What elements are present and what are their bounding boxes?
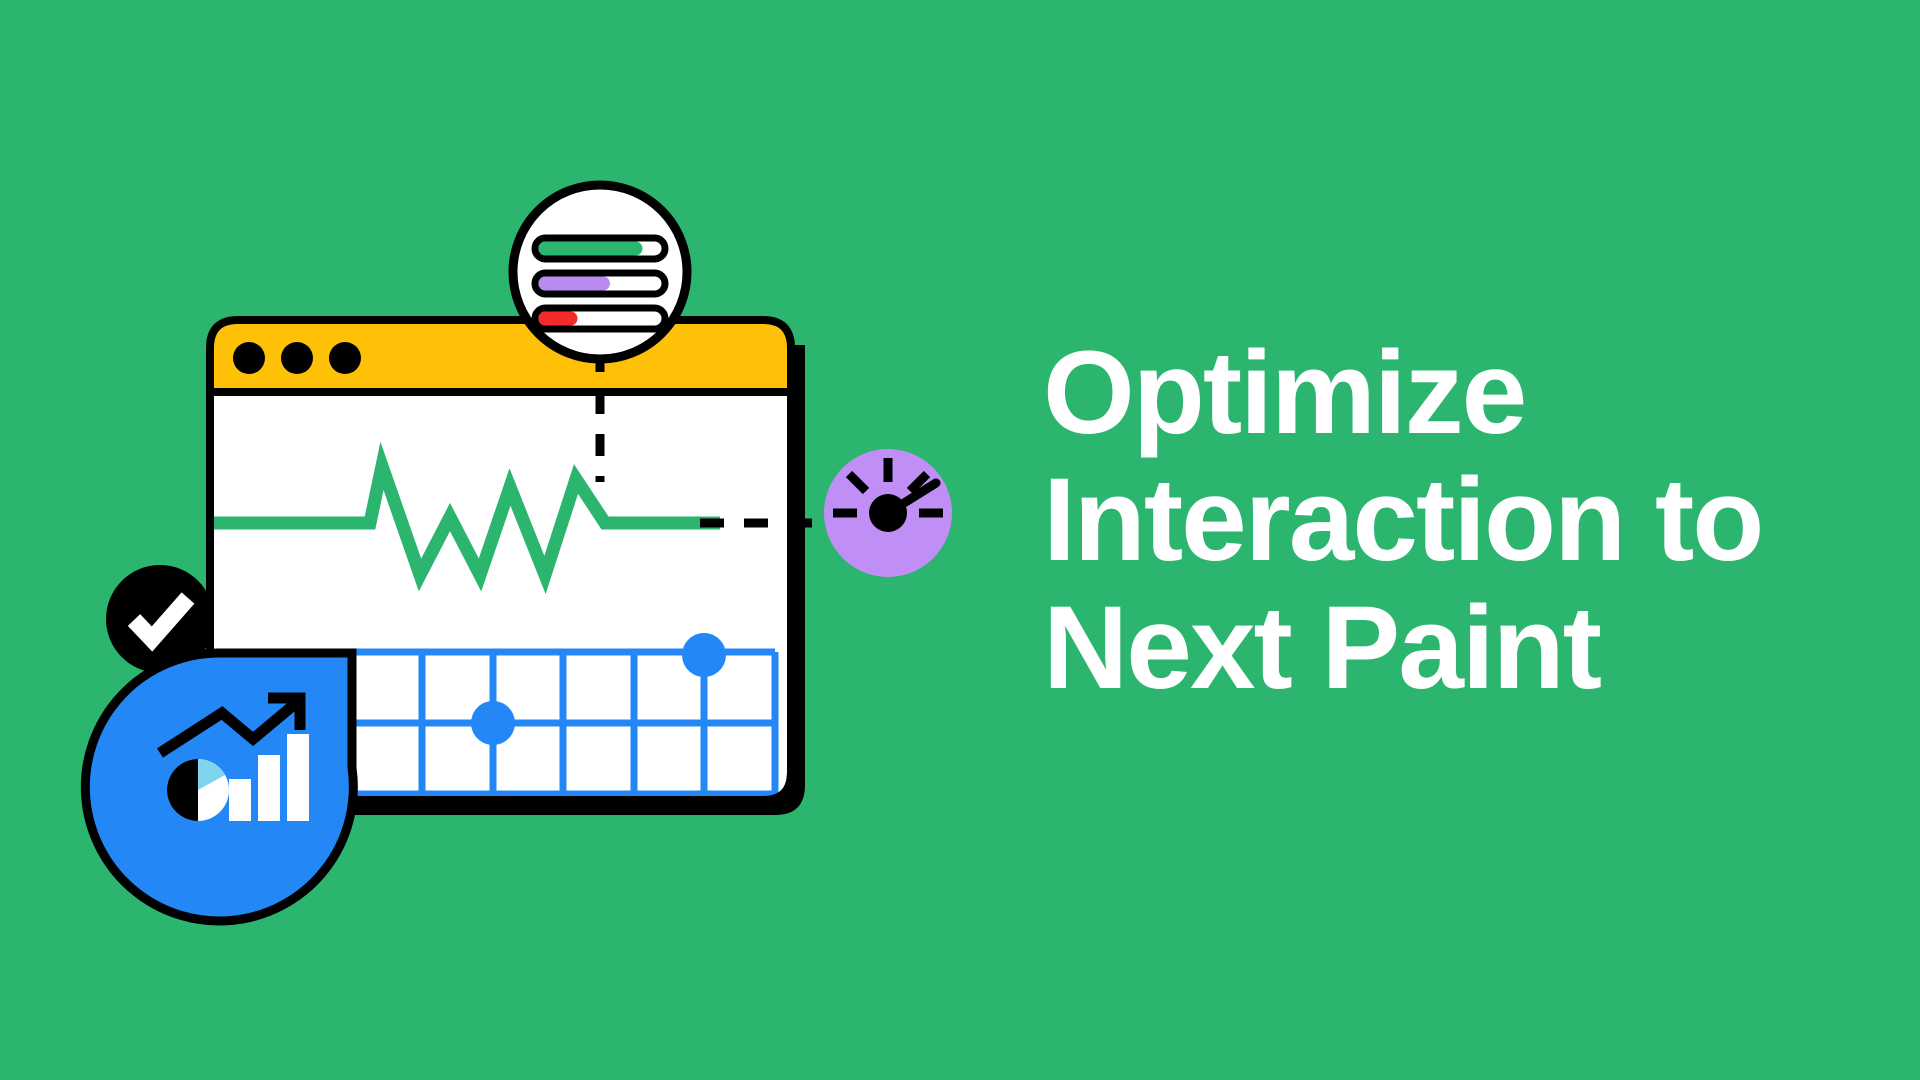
hero-illustration-stage: Optimize Interaction to Next Paint (0, 0, 1920, 1080)
metrics-score-badge[interactable] (513, 185, 687, 359)
grid-dot-upper-right[interactable] (682, 633, 726, 677)
bar-2 (258, 755, 280, 821)
window-dot-2[interactable] (281, 342, 313, 374)
poor-metric-bar (535, 308, 665, 329)
analytics-teardrop-badge[interactable] (85, 653, 353, 921)
bar-1 (229, 779, 251, 821)
window-dot-3[interactable] (329, 342, 361, 374)
pie-chart-icon (167, 759, 229, 821)
headline-line-3: Next Paint (1043, 585, 1873, 712)
window-dot-1[interactable] (233, 342, 265, 374)
grid-dot-lower-left[interactable] (471, 701, 515, 745)
headline-line-1: Optimize (1043, 330, 1873, 457)
gauge-hub (869, 494, 907, 532)
needs-improvement-bar (535, 273, 665, 294)
bar-3 (287, 734, 309, 821)
headline-line-2: Interaction to (1043, 457, 1873, 584)
page-title: Optimize Interaction to Next Paint (1043, 330, 1873, 712)
speed-gauge[interactable] (824, 449, 952, 577)
good-metric-bar (535, 238, 665, 259)
